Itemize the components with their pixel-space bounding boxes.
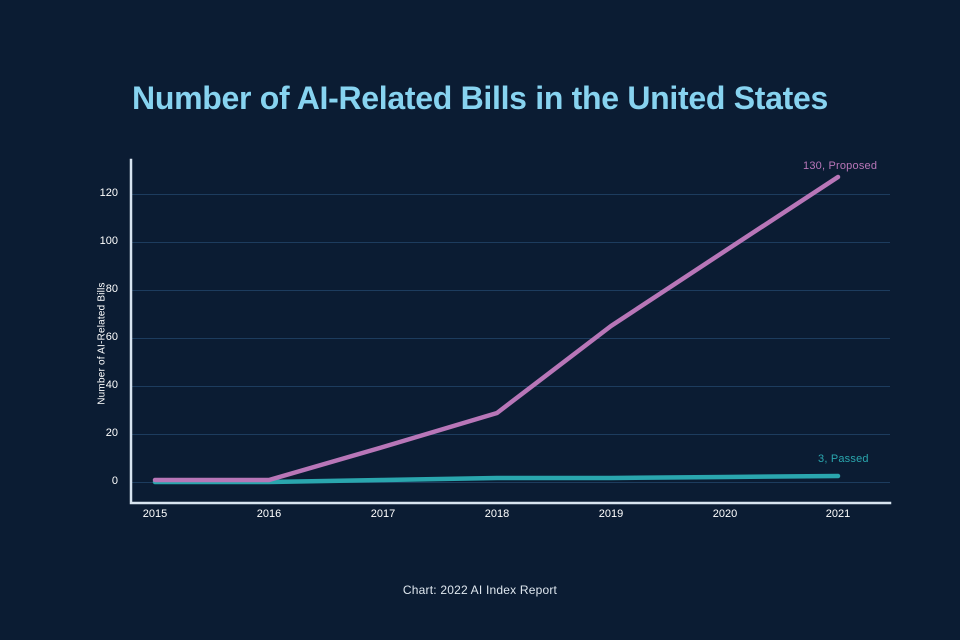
y-tick-80: 80 <box>78 284 118 295</box>
y-tick-0: 0 <box>78 476 118 487</box>
x-tick-2017: 2017 <box>343 509 423 520</box>
y-tick-100: 100 <box>78 236 118 247</box>
plot-area: Number of AI-Related Bills 120 100 80 60… <box>0 0 960 640</box>
x-tick-2018: 2018 <box>457 509 537 520</box>
y-axis-title: Number of AI-Related Bills <box>97 234 108 454</box>
x-tick-2020: 2020 <box>685 509 765 520</box>
series-label-proposed: 130, Proposed <box>803 160 877 172</box>
gridlines <box>132 195 890 483</box>
y-tick-120: 120 <box>78 188 118 199</box>
x-tick-2016: 2016 <box>229 509 309 520</box>
y-tick-40: 40 <box>78 380 118 391</box>
x-tick-2019: 2019 <box>571 509 651 520</box>
x-tick-2015: 2015 <box>115 509 195 520</box>
x-tick-2021: 2021 <box>798 509 878 520</box>
series-label-passed: 3, Passed <box>818 453 869 465</box>
axis-spine <box>131 160 890 503</box>
y-tick-60: 60 <box>78 332 118 343</box>
chart-container: Number of AI-Related Bills in the United… <box>0 0 960 640</box>
chart-source-caption: Chart: 2022 AI Index Report <box>0 583 960 597</box>
chart-svg <box>0 0 960 640</box>
y-tick-20: 20 <box>78 428 118 439</box>
axis-lines <box>131 160 890 503</box>
